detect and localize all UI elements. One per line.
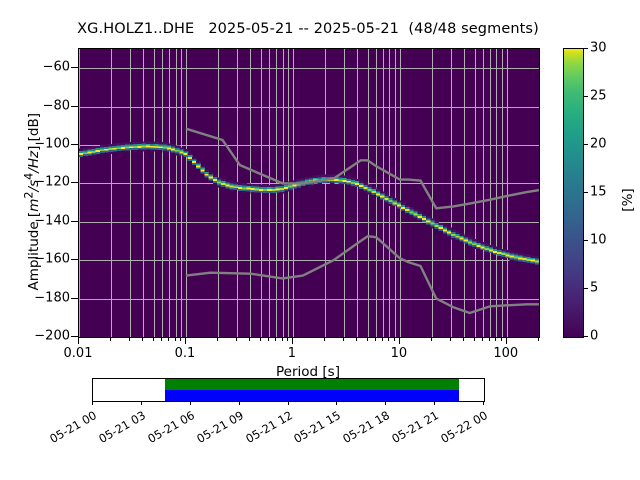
colorbar-ticklabel: 5 bbox=[590, 281, 598, 296]
y-axis-tick bbox=[71, 144, 78, 145]
timeline-tick bbox=[92, 401, 93, 405]
x-axis-tick-minor bbox=[375, 337, 376, 341]
x-axis-tick-minor bbox=[260, 337, 261, 341]
colorbar-ticklabel: 0 bbox=[590, 329, 598, 344]
timeline-tick bbox=[190, 401, 191, 405]
x-axis-ticklabel: 0.1 bbox=[150, 346, 220, 361]
colorbar-ticklabel: 20 bbox=[590, 137, 607, 152]
x-axis-tick-minor bbox=[343, 337, 344, 341]
colorbar-tick bbox=[583, 240, 588, 241]
x-axis-tick-minor bbox=[287, 337, 288, 341]
timeline-tick bbox=[239, 401, 240, 405]
x-axis-tick-minor bbox=[175, 337, 176, 341]
y-axis-tick bbox=[71, 106, 78, 107]
x-axis-tick-major bbox=[78, 337, 79, 344]
x-axis-tick-minor bbox=[168, 337, 169, 341]
y-axis-tick bbox=[71, 298, 78, 299]
page-title: XG.HOLZ1..DHE 2025-05-21 -- 2025-05-21 (… bbox=[0, 21, 616, 37]
timeline-tick bbox=[434, 401, 435, 405]
x-axis-tick-minor bbox=[110, 337, 111, 341]
x-axis-tick-minor bbox=[495, 337, 496, 341]
x-axis-ticklabel: 10 bbox=[364, 346, 434, 361]
colorbar-tick bbox=[583, 48, 588, 49]
x-axis-tick-minor bbox=[275, 337, 276, 341]
x-axis-tick-minor bbox=[382, 337, 383, 341]
x-axis-tick-major bbox=[292, 337, 293, 344]
x-axis-tick-minor bbox=[249, 337, 250, 341]
noise-model-line bbox=[186, 129, 539, 209]
ppsd-plot-axes[interactable] bbox=[78, 48, 540, 338]
y-axis-label: Amplitude [m2/s4/Hz] [dB] bbox=[22, 72, 42, 332]
x-axis-tick-minor bbox=[180, 337, 181, 341]
x-axis-tick-minor bbox=[324, 337, 325, 341]
ppsd-data-layer bbox=[79, 49, 539, 337]
x-axis-ticklabel: 0.01 bbox=[43, 346, 113, 361]
plot-canvas bbox=[79, 49, 539, 337]
x-axis-tick-minor bbox=[367, 337, 368, 341]
colorbar[interactable] bbox=[563, 48, 584, 338]
x-axis-tick-minor bbox=[356, 337, 357, 341]
x-axis-tick-major bbox=[185, 337, 186, 344]
colorbar-tick bbox=[583, 288, 588, 289]
x-axis-tick-minor bbox=[142, 337, 143, 341]
y-axis-tick bbox=[71, 67, 78, 68]
x-axis-tick-minor bbox=[129, 337, 130, 341]
timeline-tick bbox=[141, 401, 142, 405]
x-axis-ticklabel: 100 bbox=[471, 346, 541, 361]
x-axis-tick-minor bbox=[501, 337, 502, 341]
timeline-ticklabel: 05-22 00 bbox=[429, 408, 490, 451]
x-axis-ticklabel: 1 bbox=[257, 346, 327, 361]
x-axis-tick-minor bbox=[431, 337, 432, 341]
colorbar-tick bbox=[583, 96, 588, 97]
x-axis-tick-minor bbox=[388, 337, 389, 341]
colorbar-ticklabel: 30 bbox=[590, 41, 607, 56]
coverage-band-blue bbox=[165, 390, 458, 401]
colorbar-tick bbox=[583, 144, 588, 145]
x-axis-tick-minor bbox=[394, 337, 395, 341]
coverage-band-green bbox=[165, 379, 458, 390]
colorbar-label: [%] bbox=[620, 160, 636, 240]
x-axis-tick-minor bbox=[474, 337, 475, 341]
colorbar-ticklabel: 25 bbox=[590, 89, 607, 104]
x-axis-tick-minor bbox=[161, 337, 162, 341]
timeline-tick bbox=[336, 401, 337, 405]
x-axis-tick-minor bbox=[268, 337, 269, 341]
x-axis-tick-minor bbox=[217, 337, 218, 341]
x-axis-tick-minor bbox=[482, 337, 483, 341]
timeline-tick bbox=[288, 401, 289, 405]
x-axis-tick-major bbox=[506, 337, 507, 344]
y-axis-tick bbox=[71, 182, 78, 183]
colorbar-tick bbox=[583, 336, 588, 337]
x-axis-tick-minor bbox=[489, 337, 490, 341]
x-axis-tick-minor bbox=[153, 337, 154, 341]
colorbar-ticklabel: 10 bbox=[590, 233, 607, 248]
colorbar-ticklabel: 15 bbox=[590, 185, 607, 200]
y-axis-tick bbox=[71, 259, 78, 260]
y-axis-tick bbox=[71, 336, 78, 337]
timeline-tick bbox=[483, 401, 484, 405]
x-axis-tick-minor bbox=[463, 337, 464, 341]
coverage-timeline[interactable] bbox=[92, 378, 485, 402]
x-axis-tick-minor bbox=[450, 337, 451, 341]
ppsd-figure: XG.HOLZ1..DHE 2025-05-21 -- 2025-05-21 (… bbox=[0, 0, 640, 480]
colorbar-tick bbox=[583, 192, 588, 193]
y-axis-tick bbox=[71, 221, 78, 222]
x-axis-tick-minor bbox=[538, 337, 539, 341]
x-axis-tick-major bbox=[399, 337, 400, 344]
timeline-tick bbox=[385, 401, 386, 405]
x-axis-tick-minor bbox=[236, 337, 237, 341]
x-axis-tick-minor bbox=[282, 337, 283, 341]
